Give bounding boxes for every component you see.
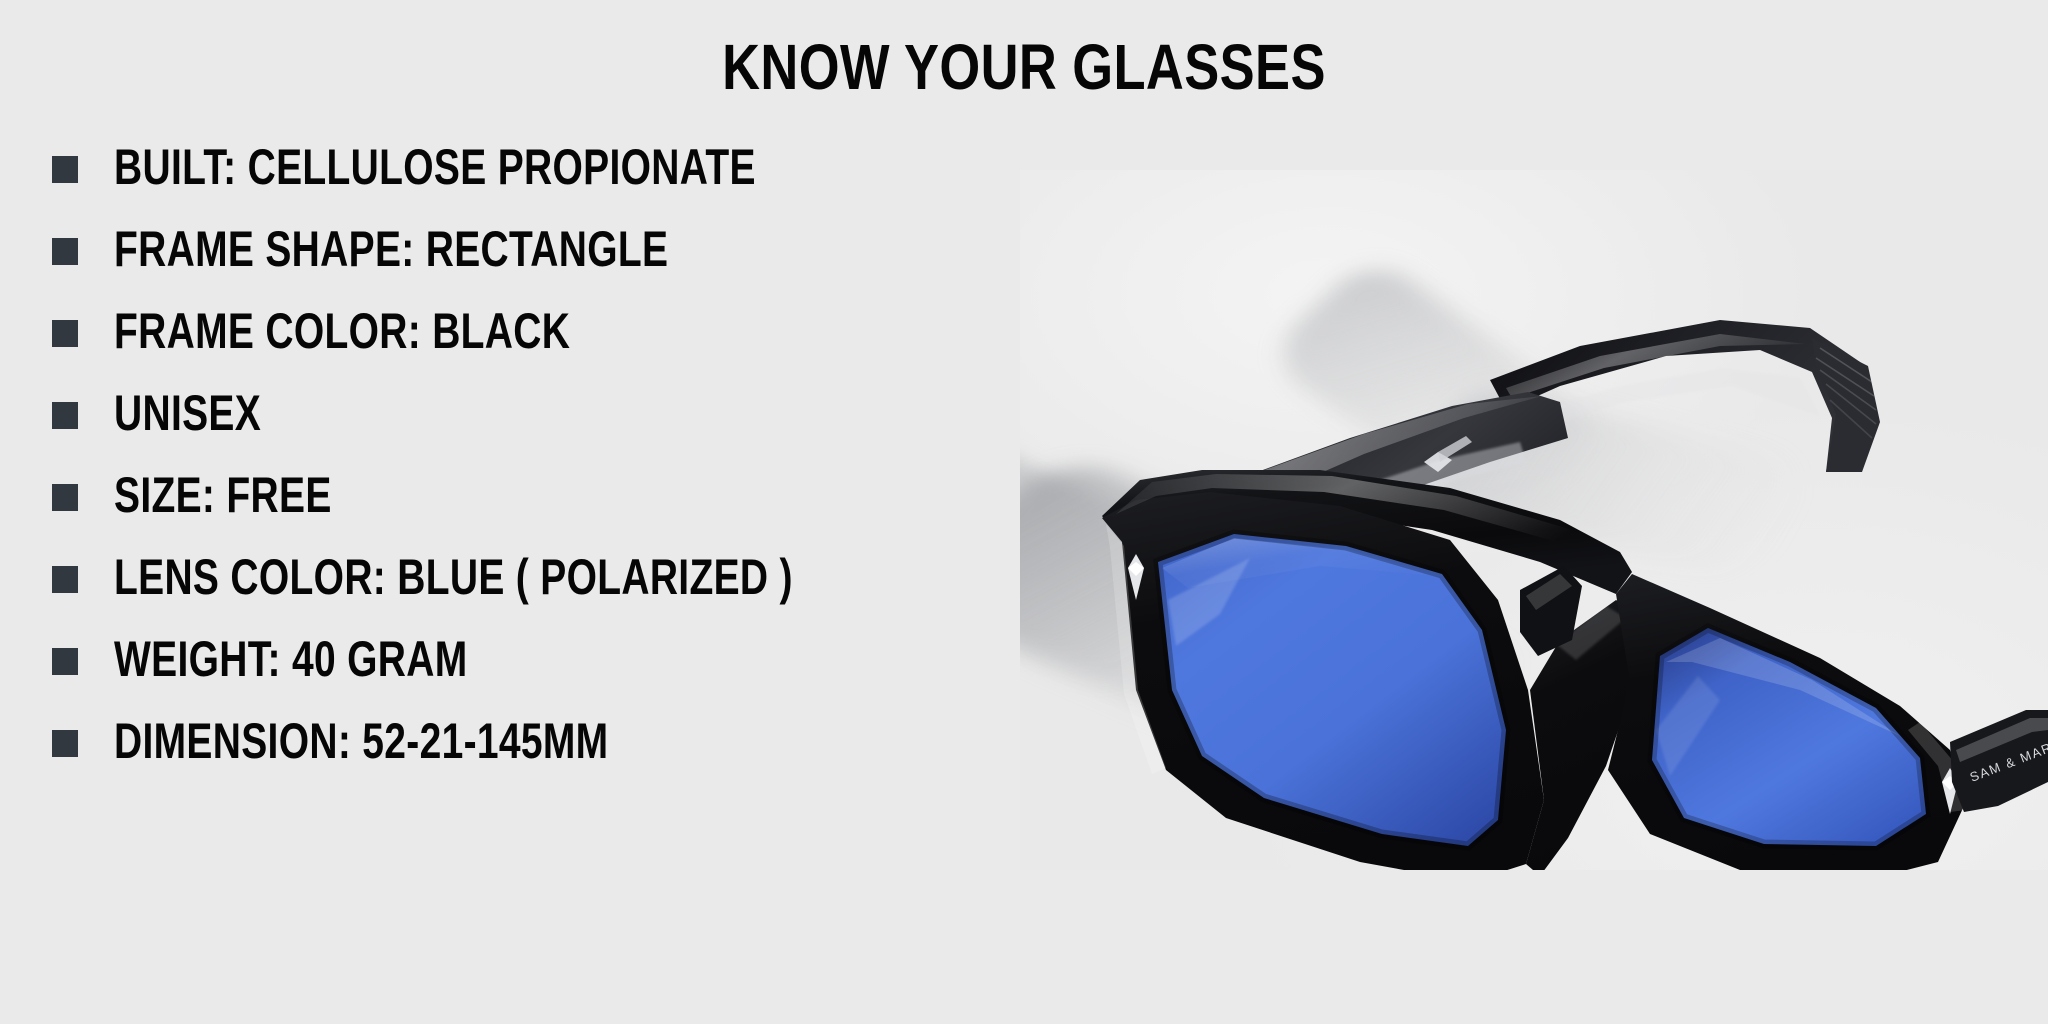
spec-label: FRAME COLOR: BLACK xyxy=(114,306,570,356)
product-photo: SAM & MARSHALL xyxy=(1020,170,2048,870)
list-item: LENS COLOR: BLUE ( POLARIZED ) xyxy=(52,536,1032,618)
list-item: SIZE: FREE xyxy=(52,454,1032,536)
list-item: UNISEX xyxy=(52,372,1032,454)
frame-front xyxy=(1102,470,1966,870)
bullet-square-icon xyxy=(52,730,78,757)
spec-label: LENS COLOR: BLUE ( POLARIZED ) xyxy=(114,552,793,602)
bullet-square-icon xyxy=(52,156,78,183)
sunglasses-illustration: SAM & MARSHALL xyxy=(1020,170,2048,870)
bullet-square-icon xyxy=(52,648,78,675)
page-title: KNOW YOUR GLASSES xyxy=(184,34,1863,101)
spec-label: UNISEX xyxy=(114,388,261,438)
list-item: DIMENSION: 52-21-145MM xyxy=(52,700,1032,782)
temple-arm-brand-side: SAM & MARSHALL xyxy=(1950,710,2048,812)
list-item: BUILT: CELLULOSE PROPIONATE xyxy=(52,126,1032,208)
bullet-square-icon xyxy=(52,320,78,347)
temple-arm-far xyxy=(1490,320,1880,472)
spec-list: BUILT: CELLULOSE PROPIONATE FRAME SHAPE:… xyxy=(52,126,1032,782)
list-item: FRAME COLOR: BLACK xyxy=(52,290,1032,372)
list-item: FRAME SHAPE: RECTANGLE xyxy=(52,208,1032,290)
product-spec-banner: KNOW YOUR GLASSES BUILT: CELLULOSE PROPI… xyxy=(0,0,2048,1024)
spec-label: SIZE: FREE xyxy=(114,470,332,520)
spec-label: WEIGHT: 40 GRAM xyxy=(114,634,468,684)
list-item: WEIGHT: 40 GRAM xyxy=(52,618,1032,700)
spec-label: DIMENSION: 52-21-145MM xyxy=(114,716,608,766)
spec-label: FRAME SHAPE: RECTANGLE xyxy=(114,224,668,274)
bullet-square-icon xyxy=(52,484,78,511)
bullet-square-icon xyxy=(52,566,78,593)
bullet-square-icon xyxy=(52,238,78,265)
spec-label: BUILT: CELLULOSE PROPIONATE xyxy=(114,142,756,192)
bullet-square-icon xyxy=(52,402,78,429)
